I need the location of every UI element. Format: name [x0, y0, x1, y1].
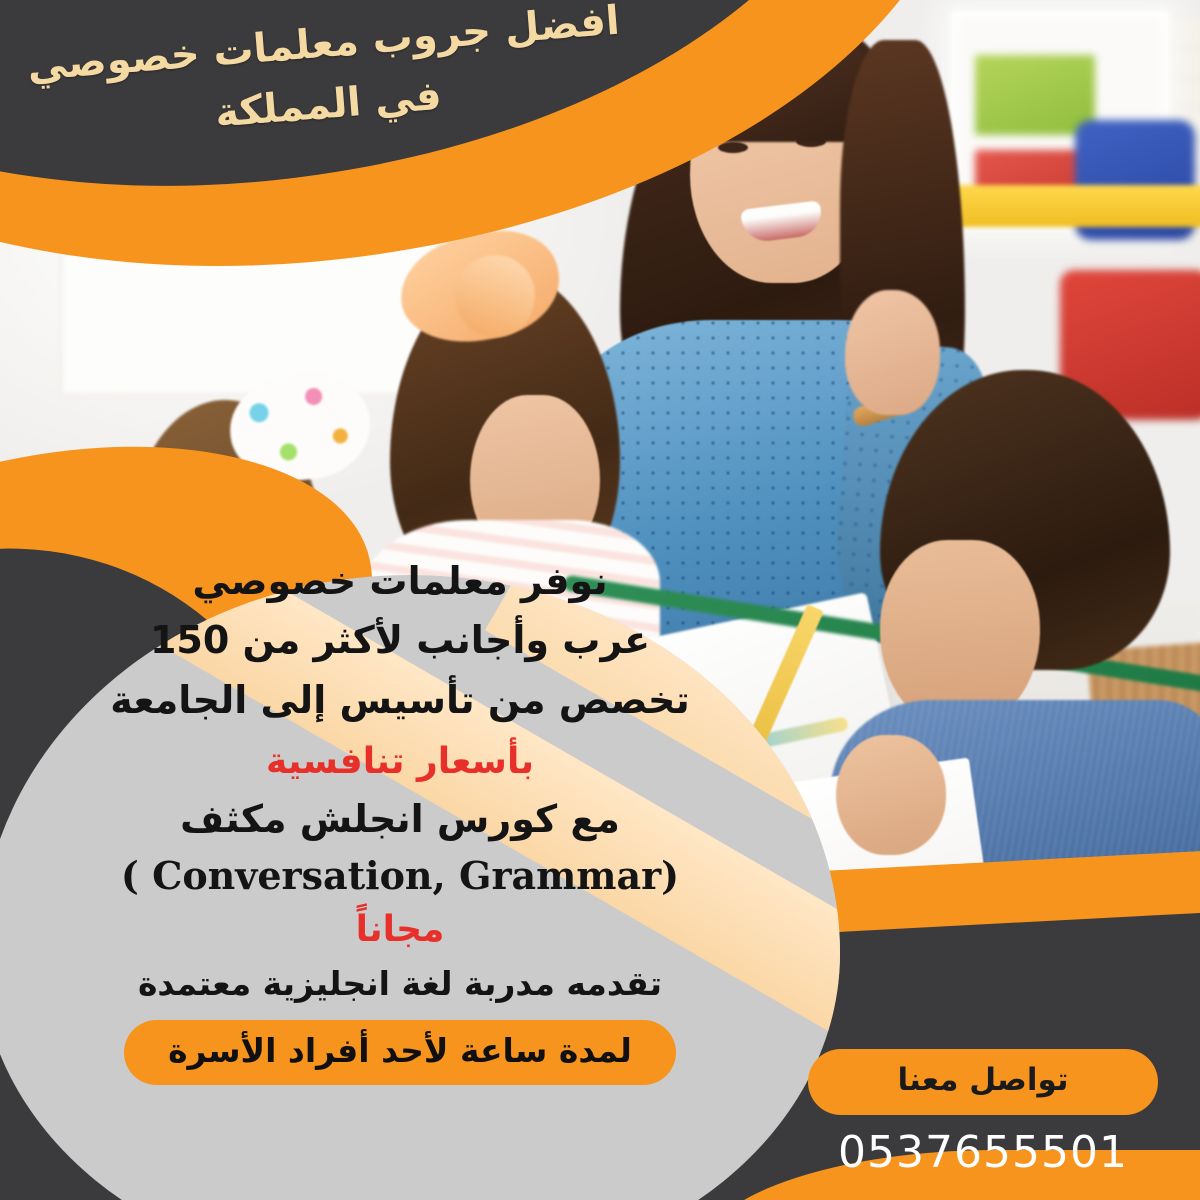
copy-line-4: مع كورس انجلش مكثف [40, 790, 760, 849]
body-copy: نوفر معلمات خصوصي عرب وأجانب لأكثر من 15… [40, 552, 760, 1085]
copy-line-3: تخصص من تأسيس إلى الجامعة [40, 671, 760, 730]
girl-first-hair-bow-knot [455, 255, 535, 337]
teacher-hand [845, 290, 940, 415]
contact-section: تواصل معنا 0537655501 [808, 1049, 1158, 1178]
copy-highlight-prices: بأسعار تنافسية [40, 734, 760, 790]
boy-hand [836, 735, 946, 855]
teacher-eye-left [718, 142, 748, 153]
advertisement-poster: افضل جروب معلمات خصوصي في المملكة نوفر م… [0, 0, 1200, 1200]
storage-bin-green [975, 55, 1095, 135]
copy-course-topics: ( Conversation, Grammar) [40, 853, 760, 898]
copy-line-5: تقدمه مدربة لغة انجليزية معتمدة [40, 958, 760, 1009]
contact-us-button[interactable]: تواصل معنا [808, 1049, 1158, 1115]
contact-phone-number[interactable]: 0537655501 [808, 1127, 1158, 1178]
offer-pill-badge[interactable]: لمدة ساعة لأحد أفراد الأسرة [124, 1020, 676, 1085]
copy-line-2: عرب وأجانب لأكثر من 150 [40, 611, 760, 670]
copy-highlight-free: مجاناً [40, 902, 760, 958]
copy-line-1: نوفر معلمات خصوصي [40, 552, 760, 611]
